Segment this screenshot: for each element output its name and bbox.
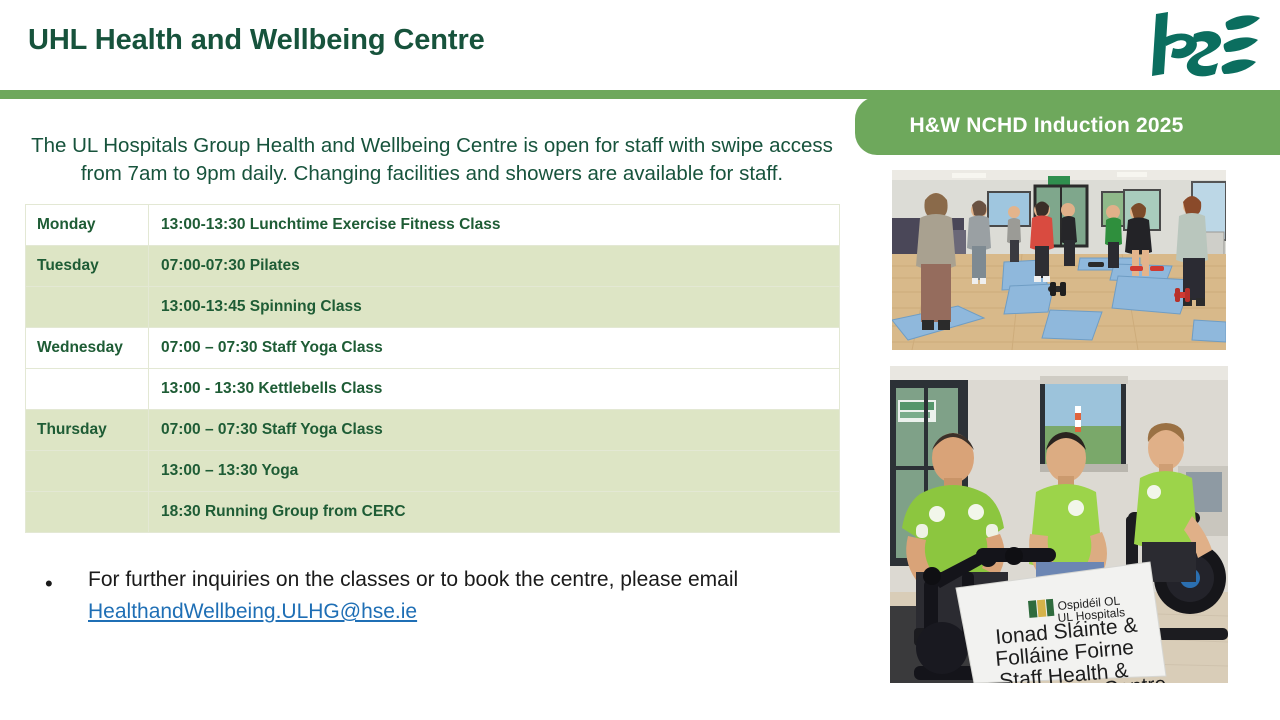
inquiries-lead-text: For further inquiries on the classes or … (88, 568, 738, 591)
photo-spin-class: Ospidéil OL UL Hospitals Ionad Sláinte &… (890, 366, 1228, 683)
intro-paragraph: The UL Hospitals Group Health and Wellbe… (26, 132, 838, 188)
table-row: 13:00 – 13:30 Yoga (26, 451, 840, 492)
bullet-glyph-icon: • (45, 568, 53, 600)
class-schedule-table: Monday13:00-13:30 Lunchtime Exercise Fit… (25, 204, 840, 533)
table-row: Thursday07:00 – 07:30 Staff Yoga Class (26, 410, 840, 451)
schedule-day-cell: Thursday (26, 410, 149, 451)
photo-fitness-class (892, 170, 1226, 350)
schedule-class-cell: 07:00 – 07:30 Staff Yoga Class (149, 410, 840, 451)
schedule-day-cell (26, 287, 149, 328)
inquiries-block: • For further inquiries on the classes o… (45, 564, 785, 628)
schedule-day-cell: Wednesday (26, 328, 149, 369)
slide-header: UHL Health and Wellbeing Centre (0, 0, 1280, 90)
email-link[interactable]: HealthandWellbeing.ULHG@hse.ie (88, 600, 417, 623)
table-row: 13:00 - 13:30 Kettlebells Class (26, 369, 840, 410)
class-schedule-body: Monday13:00-13:30 Lunchtime Exercise Fit… (26, 205, 840, 533)
inquiries-text: For further inquiries on the classes or … (88, 564, 785, 628)
section-banner-label: H&W NCHD Induction 2025 (909, 114, 1225, 138)
table-row: 18:30 Running Group from CERC (26, 492, 840, 533)
schedule-class-cell: 13:00-13:45 Spinning Class (149, 287, 840, 328)
schedule-class-cell: 07:00-07:30 Pilates (149, 246, 840, 287)
schedule-day-cell (26, 369, 149, 410)
schedule-class-cell: 18:30 Running Group from CERC (149, 492, 840, 533)
schedule-class-cell: 13:00-13:30 Lunchtime Exercise Fitness C… (149, 205, 840, 246)
schedule-class-cell: 07:00 – 07:30 Staff Yoga Class (149, 328, 840, 369)
table-row: Monday13:00-13:30 Lunchtime Exercise Fit… (26, 205, 840, 246)
table-row: 13:00-13:45 Spinning Class (26, 287, 840, 328)
table-row: Tuesday07:00-07:30 Pilates (26, 246, 840, 287)
hse-logo (1142, 6, 1262, 84)
schedule-day-cell (26, 451, 149, 492)
schedule-day-cell (26, 492, 149, 533)
schedule-class-cell: 13:00 – 13:30 Yoga (149, 451, 840, 492)
table-row: Wednesday07:00 – 07:30 Staff Yoga Class (26, 328, 840, 369)
schedule-class-cell: 13:00 - 13:30 Kettlebells Class (149, 369, 840, 410)
schedule-day-cell: Monday (26, 205, 149, 246)
section-banner: H&W NCHD Induction 2025 (855, 97, 1280, 155)
page-title: UHL Health and Wellbeing Centre (28, 24, 485, 57)
schedule-day-cell: Tuesday (26, 246, 149, 287)
